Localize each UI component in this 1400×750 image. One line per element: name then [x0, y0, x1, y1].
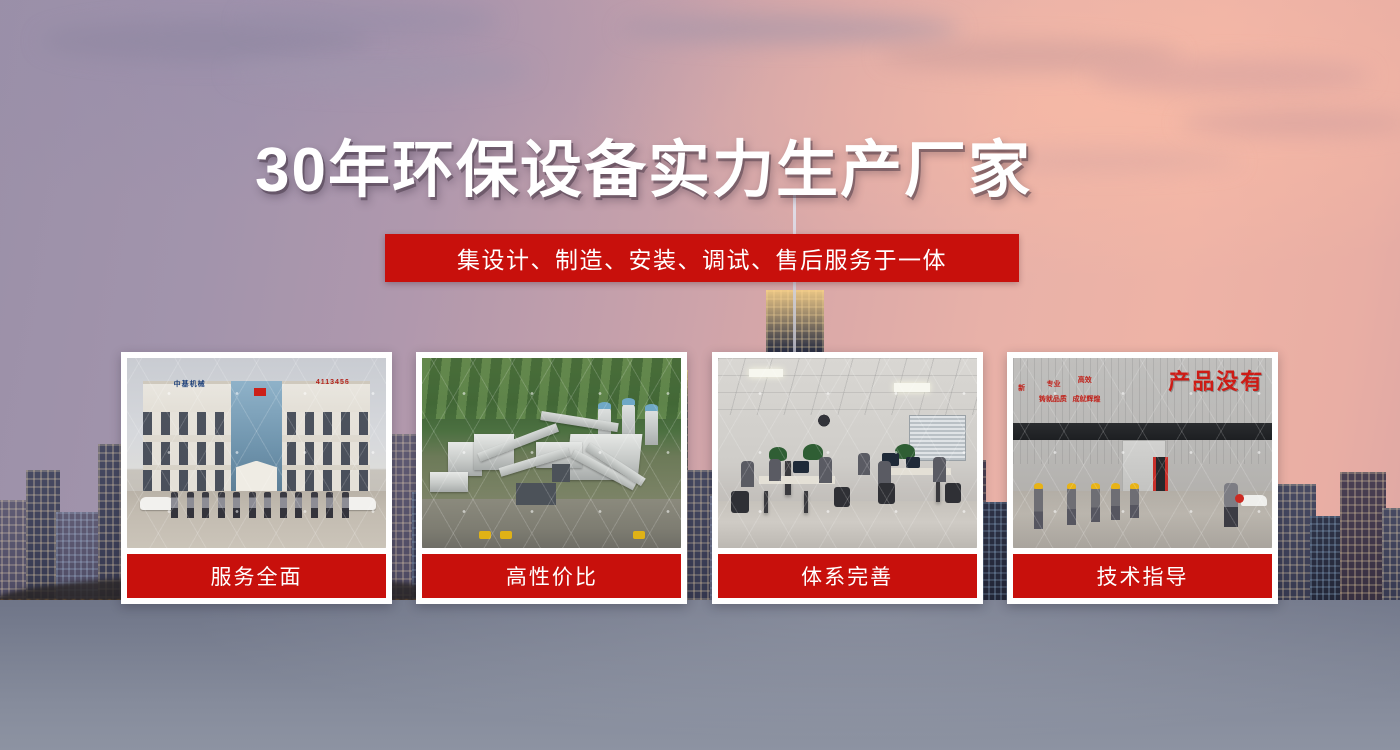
cloud-7	[620, 14, 960, 44]
instructor-figure	[1224, 483, 1238, 527]
production-plant-aerial-photo	[422, 358, 681, 548]
wall-slogan-2: 专业	[1047, 379, 1061, 389]
page-title: 30年环保设备实力生产厂家	[255, 136, 1032, 205]
parked-car	[1241, 495, 1267, 506]
wall-logo-icon	[813, 411, 835, 427]
feature-card-3[interactable]: 体系完善	[712, 352, 983, 604]
subtitle-banner: 集设计、制造、安装、调试、售后服务于一体	[385, 234, 1019, 282]
feature-card-2[interactable]: 高性价比	[416, 352, 687, 604]
flag-icon	[254, 388, 266, 396]
window-blinds	[909, 415, 966, 461]
building-phone-number: 4113456	[316, 379, 350, 386]
feature-card-1[interactable]: 中基机械 4113456 服务全面	[121, 352, 392, 604]
hero-banner: 30年环保设备实力生产厂家 集设计、制造、安装、调试、售后服务于一体 中基机械 …	[0, 0, 1400, 750]
water-reflection	[0, 600, 1400, 750]
feature-card-4-caption: 技术指导	[1013, 554, 1272, 598]
cloud-2	[230, 55, 530, 89]
wall-slogan-1: 新	[1018, 383, 1025, 393]
feature-card-2-caption: 高性价比	[422, 554, 681, 598]
cloud-3	[240, 6, 500, 36]
subtitle-text: 集设计、制造、安装、调试、售后服务于一体	[457, 241, 947, 275]
wall-slogan-4: 铸就品质	[1039, 394, 1067, 404]
cloud-6	[1180, 110, 1400, 136]
workshop-training-photo: 产品没有 新 专业 高效 铸就品质 成就辉煌	[1013, 358, 1272, 548]
wall-slogan-3: 高效	[1078, 375, 1092, 385]
office-team-photo	[718, 358, 977, 548]
safety-helmet-held	[1235, 494, 1244, 503]
building-signage: 中基机械	[174, 379, 206, 389]
company-headquarters-photo: 中基机械 4113456	[127, 358, 386, 548]
feature-card-3-caption: 体系完善	[718, 554, 977, 598]
feature-card-1-caption: 服务全面	[127, 554, 386, 598]
cloud-5	[1090, 58, 1370, 94]
feature-card-row: 中基机械 4113456 服务全面	[121, 352, 1278, 604]
factory-wall-headline: 产品没有	[1168, 364, 1264, 396]
feature-card-4[interactable]: 产品没有 新 专业 高效 铸就品质 成就辉煌	[1007, 352, 1278, 604]
wall-slogan-5: 成就辉煌	[1073, 394, 1101, 404]
